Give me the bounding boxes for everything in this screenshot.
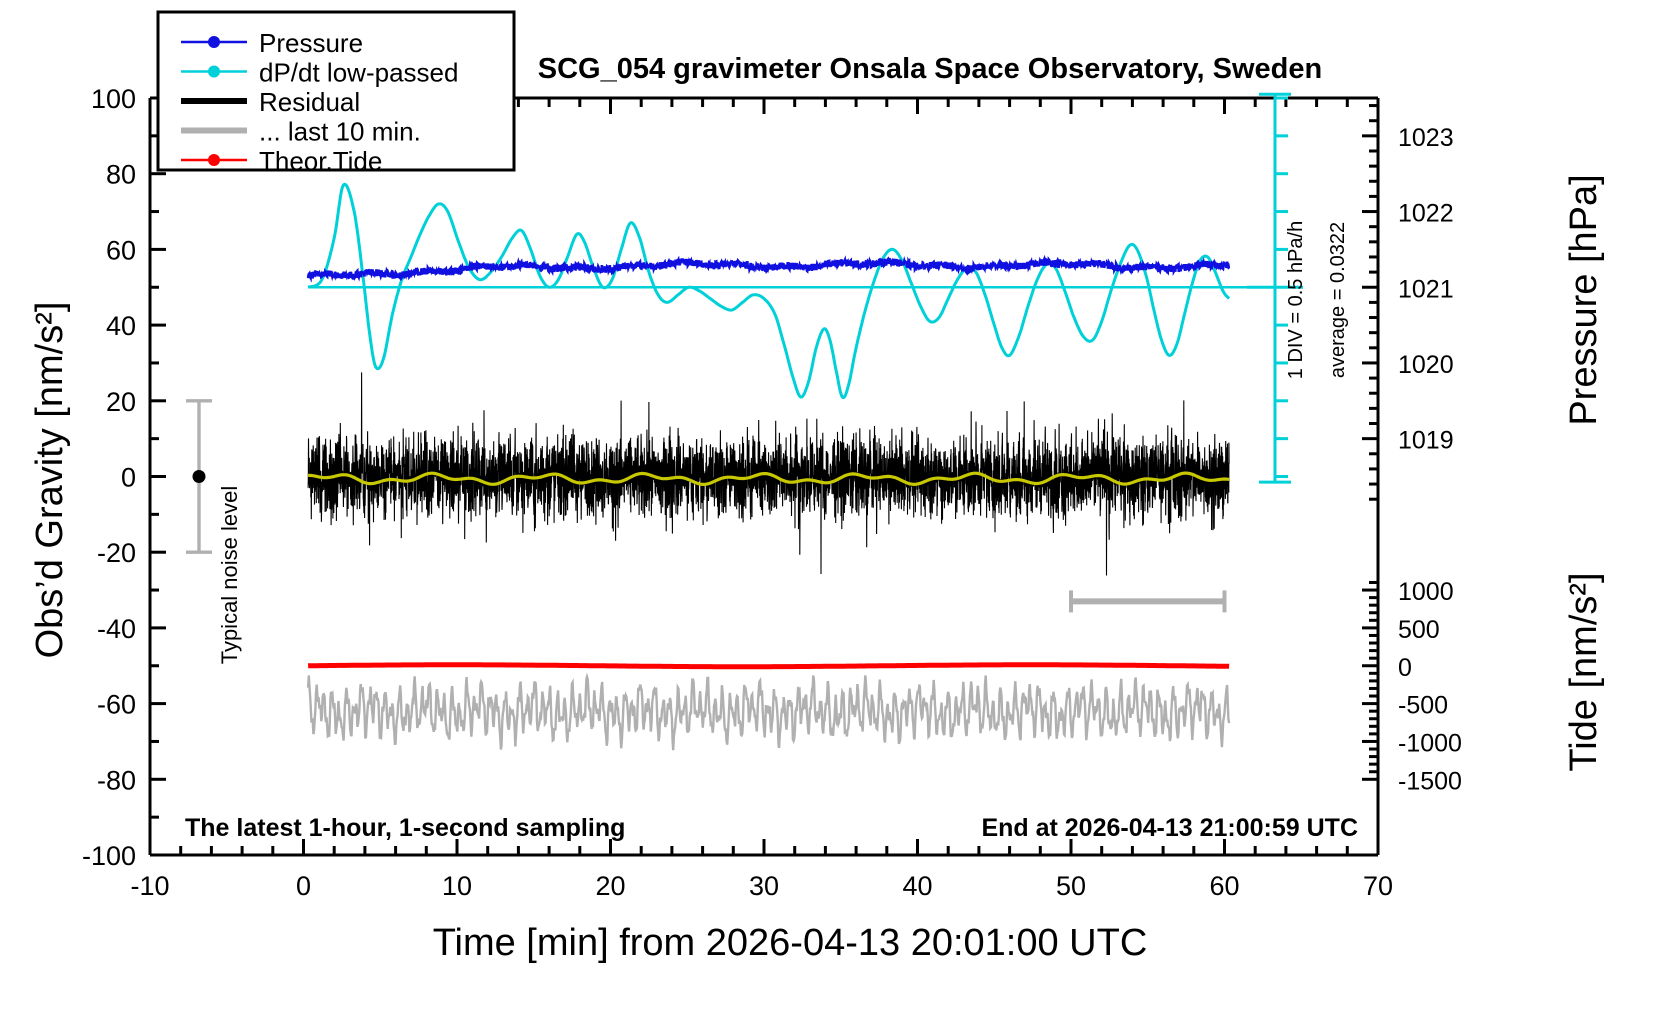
- pressure-tick-label: 1019: [1398, 427, 1454, 455]
- pressure-tick-label: 1020: [1398, 351, 1454, 379]
- average-label: average = 0.0322: [1327, 222, 1349, 378]
- y-tick-label: 20: [106, 387, 136, 417]
- y-tick-label: 40: [106, 311, 136, 341]
- x-tick-label: 10: [442, 871, 472, 901]
- chart-svg: -100-80-60-40-20020406080100 -1001020304…: [0, 0, 1660, 1020]
- div-scale-label: 1 DIV = 0.5 hPa/h: [1285, 221, 1307, 379]
- theor-tide-trace: [308, 665, 1229, 667]
- tide-tick-label: -1500: [1398, 767, 1462, 795]
- x-tick-label: 30: [749, 871, 779, 901]
- footer-left-text: The latest 1-hour, 1-second sampling: [185, 814, 625, 842]
- legend-marker: [208, 36, 220, 48]
- x-tick-label: 50: [1056, 871, 1086, 901]
- tide-tick-label: 0: [1398, 654, 1412, 682]
- y-axis-right-bottom-title: Tide [nm/s²]: [1563, 572, 1605, 771]
- y-tick-label: -20: [97, 538, 136, 568]
- y-tick-label: -60: [97, 690, 136, 720]
- x-tick-label: -10: [130, 871, 169, 901]
- y-tick-label: 0: [121, 463, 136, 493]
- pressure-tick-label: 1021: [1398, 275, 1454, 303]
- legend-marker: [208, 66, 220, 78]
- tide-tick-label: -1000: [1398, 729, 1462, 757]
- noise-level-label: Typical noise level: [217, 486, 242, 665]
- legend-label: Theor.Tide: [259, 146, 382, 176]
- y-tick-label: -100: [82, 841, 136, 871]
- y-axis-left-title: Obs’d Gravity [nm/s²]: [29, 302, 71, 659]
- legend: PressuredP/dt low-passedResidual... last…: [158, 12, 514, 176]
- x-tick-label: 40: [902, 871, 932, 901]
- x-tick-label: 60: [1209, 871, 1239, 901]
- pressure-tick-label: 1023: [1398, 124, 1454, 152]
- tide-tick-label: -500: [1398, 692, 1448, 720]
- x-tick-label: 20: [595, 871, 625, 901]
- y-axis-right-top-title: Pressure [hPa]: [1563, 174, 1605, 425]
- gravimeter-chart: -100-80-60-40-20020406080100 -1001020304…: [0, 0, 1660, 1020]
- x-tick-label: 0: [296, 871, 311, 901]
- chart-title: SCG_054 gravimeter Onsala Space Observat…: [538, 53, 1322, 85]
- footer-right-text: End at 2026-04-13 21:00:59 UTC: [981, 814, 1358, 842]
- y-tick-label: 80: [106, 160, 136, 190]
- x-axis-title: Time [min] from 2026-04-13 20:01:00 UTC: [433, 922, 1148, 964]
- y-tick-label: -40: [97, 614, 136, 644]
- legend-label: Residual: [259, 87, 360, 117]
- legend-label: dP/dt low-passed: [259, 58, 458, 88]
- tide-tick-label: 500: [1398, 616, 1440, 644]
- y-tick-label: 60: [106, 235, 136, 265]
- y-tick-label: -80: [97, 765, 136, 795]
- tide-tick-label: 1000: [1398, 578, 1454, 606]
- pressure-tick-label: 1022: [1398, 200, 1454, 228]
- y-tick-label: 100: [91, 84, 136, 114]
- legend-marker: [208, 154, 220, 166]
- legend-label: Pressure: [259, 28, 363, 58]
- x-tick-label: 70: [1363, 871, 1393, 901]
- legend-label: ... last 10 min.: [259, 117, 421, 147]
